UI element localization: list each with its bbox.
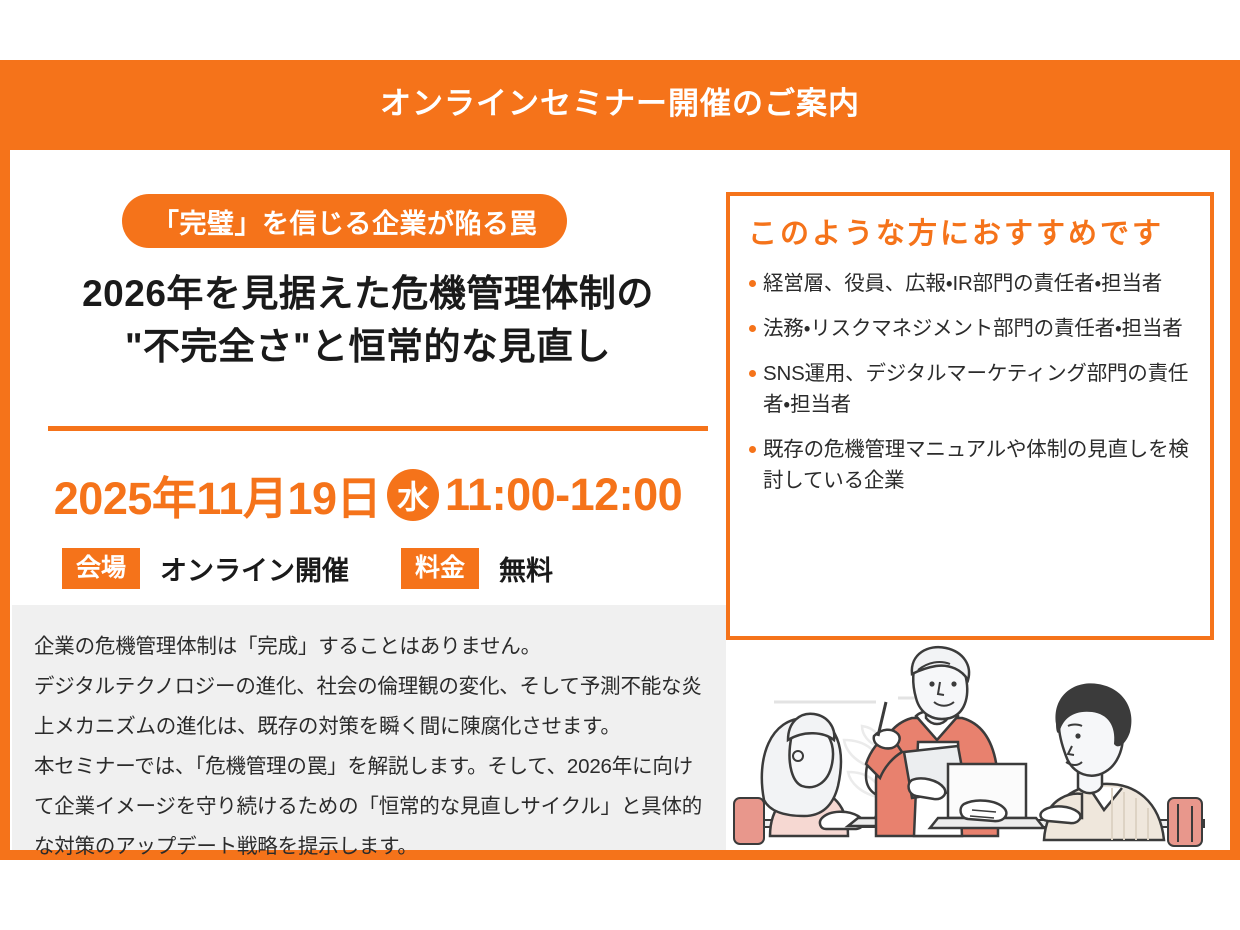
description-line: て企業イメージを守り続けるための「恒常的な見直しサイクル」と具体的 (34, 787, 700, 827)
seminar-poster: オンラインセミナー開催のご案内 「完璧」を信じる企業が陥る罠 2026年を見据え… (0, 0, 1240, 930)
business-meeting-illustration (726, 640, 1214, 850)
list-item: 既存の危機管理マニュアルや体制の見直しを検討している企業 (748, 434, 1194, 496)
list-item: SNS運用、デジタルマーケティング部門の責任者・担当者 (748, 358, 1194, 420)
recommend-panel: このような方におすすめです 経営層、役員、広報・IR部門の責任者・担当者 法務・… (726, 192, 1214, 640)
meeting-scene-icon (726, 640, 1214, 850)
content-frame-inner: 「完璧」を信じる企業が陥る罠 2026年を見据えた危機管理体制の "不完全さ"と… (10, 150, 1230, 850)
schedule-time: 11:00-12:00 (445, 469, 682, 521)
description-box: 企業の危機管理体制は「完成」することはありません。 デジタルテクノロジーの進化、… (12, 605, 726, 850)
page-title-line-2: "不完全さ"と恒常的な見直し (10, 321, 726, 374)
list-item: 法務・リスクマネジメント部門の責任者・担当者 (748, 313, 1194, 344)
description-line: 本セミナーでは、「危機管理の罠」を解説します。そして、2026年に向け (34, 747, 700, 787)
title-divider (48, 426, 708, 431)
schedule-date: 2025年11月19日 (54, 462, 381, 527)
fee-tag: 料金 (401, 548, 479, 589)
description-line: デジタルテクノロジーの進化、社会の倫理観の変化、そして予測不能な炎 (34, 667, 700, 707)
recommend-panel-heading: このような方におすすめです (748, 210, 1194, 252)
page-title: 2026年を見据えた危機管理体制の "不完全さ"と恒常的な見直し (10, 268, 726, 373)
fee-value: 無料 (499, 549, 553, 588)
top-banner: オンラインセミナー開催のご案内 (0, 60, 1240, 140)
weekday-badge: 水 (387, 469, 439, 521)
details-row: 会場 オンライン開催 料金 無料 (62, 548, 553, 589)
description-line: な対策のアップデート戦略を提示します。 (34, 827, 700, 867)
schedule-row: 2025年11月19日 水 11:00-12:00 (10, 462, 726, 527)
recommend-list: 経営層、役員、広報・IR部門の責任者・担当者 法務・リスクマネジメント部門の責任… (748, 268, 1194, 496)
page-title-line-1: 2026年を見据えた危機管理体制の (10, 268, 726, 321)
left-column: 「完璧」を信じる企業が陥る罠 2026年を見据えた危機管理体制の "不完全さ"と… (10, 150, 726, 850)
hero-badge: 「完璧」を信じる企業が陥る罠 (122, 194, 567, 248)
content-frame: 「完璧」を信じる企業が陥る罠 2026年を見据えた危機管理体制の "不完全さ"と… (0, 140, 1240, 860)
description-line: 企業の危機管理体制は「完成」することはありません。 (34, 627, 700, 667)
banner-title: オンラインセミナー開催のご案内 (380, 78, 860, 123)
venue-value: オンライン開催 (160, 549, 349, 588)
venue-tag: 会場 (62, 548, 140, 589)
description-line: 上メカニズムの進化は、既存の対策を瞬く間に陳腐化させます。 (34, 707, 700, 747)
list-item: 経営層、役員、広報・IR部門の責任者・担当者 (748, 268, 1194, 299)
